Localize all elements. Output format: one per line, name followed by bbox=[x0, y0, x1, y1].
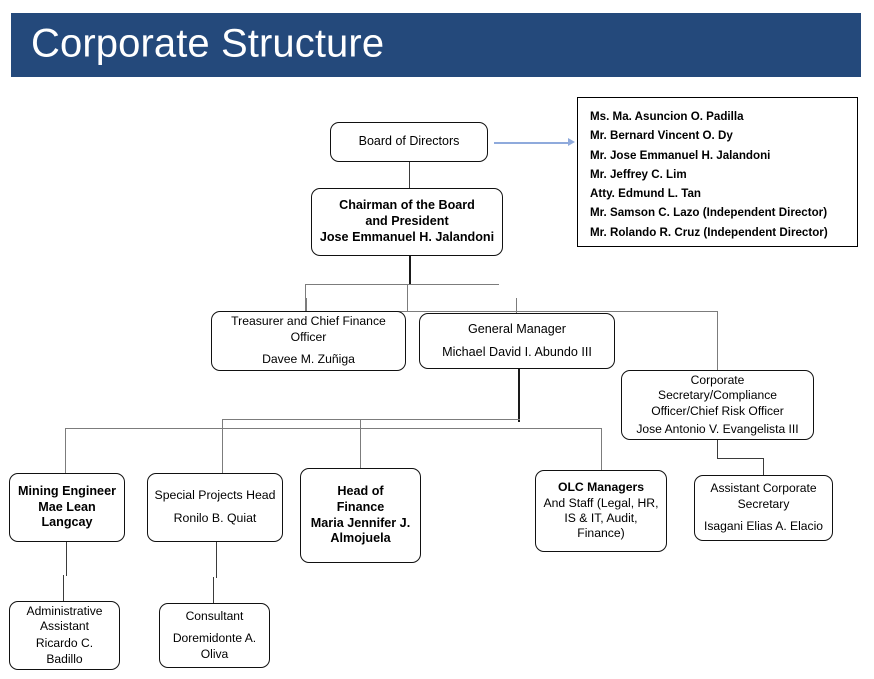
connector-mining-to-admin-b bbox=[63, 575, 64, 602]
node-asstcorpsec-title-1: Secretary bbox=[699, 497, 828, 512]
connector-bus-lower-inner bbox=[222, 419, 520, 420]
node-treasurer-name-0: Davee M. Zuñiga bbox=[216, 352, 401, 367]
node-special-projects-head[interactable]: Special Projects Head Ronilo B. Quiat bbox=[147, 473, 283, 542]
director-list-item: Mr. Jose Emmanuel H. Jalandoni bbox=[590, 146, 857, 165]
node-corpsec-name-0: Jose Antonio V. Evangelista III bbox=[626, 422, 809, 437]
connector-corpsec-jog bbox=[717, 458, 764, 459]
org-chart-canvas: Corporate Structure Board of Directors C bbox=[0, 0, 874, 679]
node-mining-title-0: Mining Engineer bbox=[14, 484, 120, 500]
node-admin-name-0: Ricardo C. bbox=[14, 636, 115, 651]
connector-mining-to-admin-a bbox=[66, 542, 67, 576]
connector-treasurer-stem bbox=[306, 298, 307, 312]
connector-chairman-drop bbox=[409, 255, 411, 284]
node-mining-name-0: Mae Lean bbox=[14, 500, 120, 516]
node-treasurer-title-0: Treasurer and Chief Finance bbox=[216, 314, 401, 329]
node-finance-name-0: Maria Jennifer J. bbox=[305, 516, 416, 532]
node-consultant-name-0: Doremidonte A. bbox=[164, 631, 265, 646]
director-list-item: Mr. Rolando R. Cruz (Independent Directo… bbox=[590, 223, 857, 242]
node-head-of-finance[interactable]: Head of Finance Maria Jennifer J. Almoju… bbox=[300, 468, 421, 563]
node-asstcorpsec-title-0: Assistant Corporate bbox=[699, 481, 828, 496]
board-to-list-arrow-line bbox=[494, 142, 569, 144]
node-olc-name-1: IS & IT, Audit, bbox=[540, 511, 662, 526]
node-chairman-president[interactable]: Chairman of the Board and President Jose… bbox=[311, 188, 503, 256]
node-treasurer-title-1: Officer bbox=[216, 330, 401, 345]
node-corpsec-title-1: Secretary/Compliance bbox=[626, 388, 809, 403]
connector-special-to-consultant-b bbox=[213, 577, 214, 604]
connector-gm-drop bbox=[518, 368, 520, 422]
node-asstcorpsec-name-0: Isagani Elias A. Elacio bbox=[699, 519, 828, 534]
node-corpsec-title-2: Officer/Chief Risk Officer bbox=[626, 404, 809, 419]
node-corpsec-title-0: Corporate bbox=[626, 373, 809, 388]
connector-drop-assistant-corpsec bbox=[763, 458, 764, 475]
node-mining-engineer[interactable]: Mining Engineer Mae Lean Langcay bbox=[9, 473, 125, 542]
node-consultant-name-1: Oliva bbox=[164, 647, 265, 662]
node-administrative-assistant[interactable]: Administrative Assistant Ricardo C. Badi… bbox=[9, 601, 120, 670]
node-board-title-0: Board of Directors bbox=[335, 134, 483, 150]
title-banner: Corporate Structure bbox=[11, 13, 861, 77]
node-olc-managers[interactable]: OLC Managers And Staff (Legal, HR, IS & … bbox=[535, 470, 667, 552]
connector-drop-mining-engineer bbox=[65, 428, 66, 473]
director-list-item: Mr. Jeffrey C. Lim bbox=[590, 165, 857, 184]
node-finance-title-1: Finance bbox=[305, 500, 416, 516]
connector-bus-lower-outer bbox=[65, 428, 602, 429]
node-admin-name-1: Badillo bbox=[14, 652, 115, 667]
node-corporate-secretary[interactable]: Corporate Secretary/Compliance Officer/C… bbox=[621, 370, 814, 440]
node-mining-name-1: Langcay bbox=[14, 515, 120, 531]
connector-board-to-chairman bbox=[409, 161, 410, 189]
page-title: Corporate Structure bbox=[31, 22, 384, 67]
board-to-list-arrow-head bbox=[568, 138, 575, 146]
connector-bus-corpsec bbox=[405, 311, 718, 312]
node-finance-name-1: Almojuela bbox=[305, 531, 416, 547]
node-consultant-title-0: Consultant bbox=[164, 609, 265, 624]
node-gm-name-0: Michael David I. Abundo III bbox=[424, 345, 610, 361]
node-finance-title-0: Head of bbox=[305, 484, 416, 500]
connector-corpsec-drop2 bbox=[717, 440, 718, 458]
connector-bus-upper bbox=[305, 284, 499, 285]
node-olc-name-2: Finance) bbox=[540, 526, 662, 541]
director-list-item: Mr. Bernard Vincent O. Dy bbox=[590, 126, 857, 145]
node-board-of-directors[interactable]: Board of Directors bbox=[330, 122, 488, 162]
directors-list-panel: Ms. Ma. Asuncion O. Padilla Mr. Bernard … bbox=[577, 97, 858, 247]
node-treasurer-cfo[interactable]: Treasurer and Chief Finance Officer Dave… bbox=[211, 311, 406, 371]
director-list-item: Ms. Ma. Asuncion O. Padilla bbox=[590, 107, 857, 126]
connector-drop-olc-managers bbox=[601, 428, 602, 470]
director-list-item: Atty. Edmund L. Tan bbox=[590, 184, 857, 203]
node-special-name-0: Ronilo B. Quiat bbox=[152, 511, 278, 527]
connector-drop-head-finance bbox=[360, 419, 361, 468]
node-admin-title-1: Assistant bbox=[14, 619, 115, 634]
node-assistant-corporate-secretary[interactable]: Assistant Corporate Secretary Isagani El… bbox=[694, 475, 833, 541]
director-list-item: Mr. Samson C. Lazo (Independent Director… bbox=[590, 203, 857, 222]
node-chairman-title-0: Chairman of the Board bbox=[316, 198, 498, 214]
node-consultant[interactable]: Consultant Doremidonte A. Oliva bbox=[159, 603, 270, 668]
node-olc-name-0: And Staff (Legal, HR, bbox=[540, 496, 662, 511]
node-olc-title-0: OLC Managers bbox=[540, 480, 662, 495]
node-chairman-title-1: and President bbox=[316, 214, 498, 230]
node-gm-title-0: General Manager bbox=[424, 322, 610, 338]
node-special-title-0: Special Projects Head bbox=[152, 488, 278, 504]
node-admin-title-0: Administrative bbox=[14, 604, 115, 619]
connector-special-to-consultant-a bbox=[216, 542, 217, 578]
node-chairman-name-0: Jose Emmanuel H. Jalandoni bbox=[316, 230, 498, 246]
connector-gm-stem bbox=[516, 298, 517, 314]
connector-drop-gm-upper bbox=[407, 284, 408, 311]
connector-drop-corpsec bbox=[717, 311, 718, 370]
node-general-manager[interactable]: General Manager Michael David I. Abundo … bbox=[419, 313, 615, 369]
